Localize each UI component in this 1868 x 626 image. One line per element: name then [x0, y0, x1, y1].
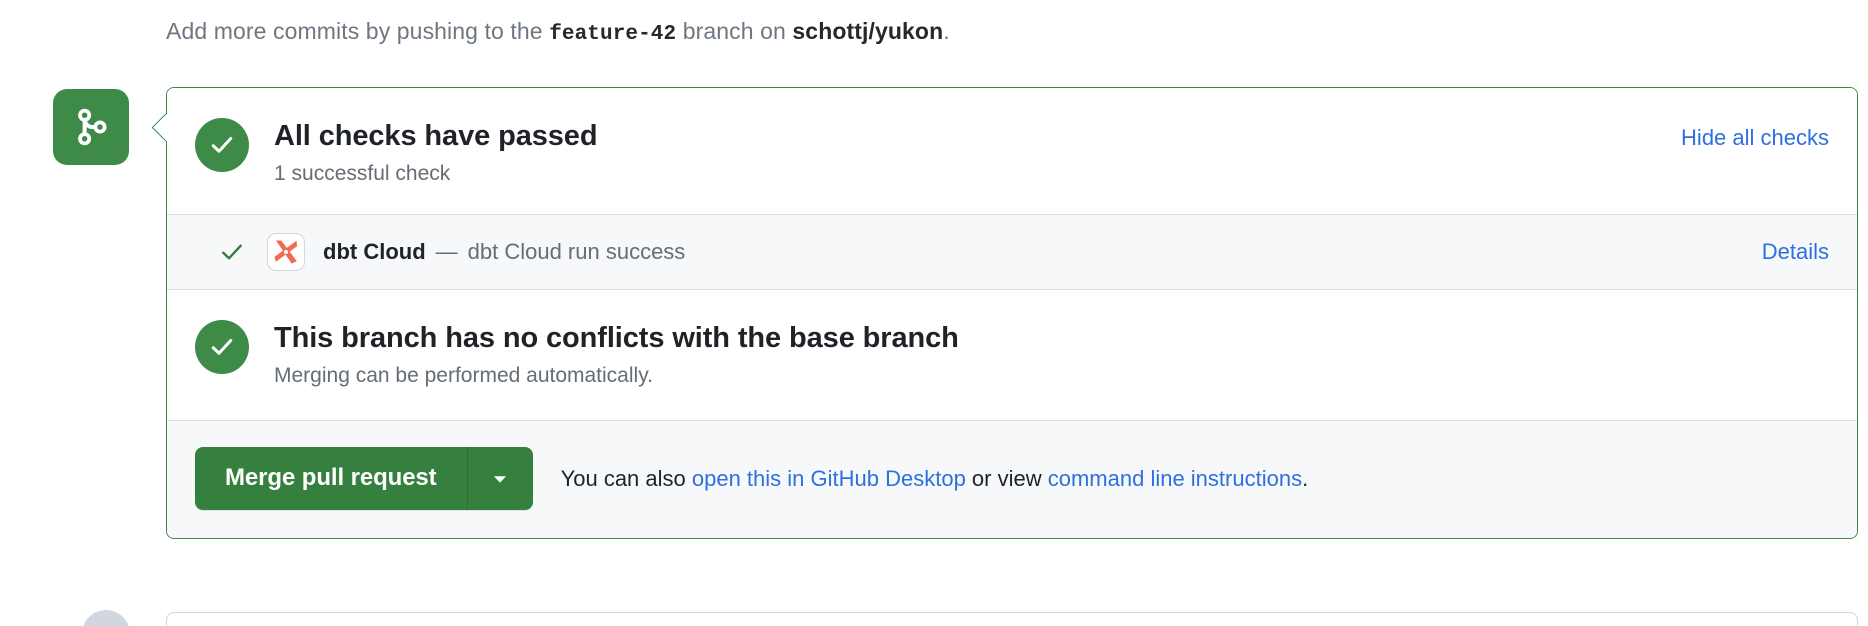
push-hint-suffix: . [943, 18, 950, 44]
merge-method-dropdown-button[interactable] [467, 447, 533, 510]
table-row: dbt Cloud — dbt Cloud run success Detail… [167, 214, 1857, 290]
chevron-down-icon [489, 468, 511, 490]
command-line-instructions-link[interactable]: command line instructions [1048, 466, 1302, 491]
hide-all-checks-link[interactable]: Hide all checks [1681, 124, 1829, 152]
git-merge-icon [71, 107, 111, 147]
conflicts-subtitle: Merging can be performed automatically. [274, 362, 959, 390]
next-comment-card [166, 612, 1858, 626]
merge-button-group: Merge pull request [195, 447, 533, 510]
check-separator: — [436, 237, 458, 267]
push-more-commits-hint: Add more commits by pushing to the featu… [166, 16, 950, 50]
check-app-name: dbt Cloud [323, 237, 426, 267]
check-circle-icon [195, 320, 249, 374]
checks-subtitle: 1 successful check [274, 160, 597, 188]
footer-text-prefix: You can also [561, 466, 692, 491]
check-description: dbt Cloud run success [468, 237, 686, 267]
footer-text-middle: or view [966, 466, 1048, 491]
push-hint-middle: branch on [676, 18, 792, 44]
conflicts-section: This branch has no conflicts with the ba… [167, 290, 1857, 421]
checks-summary-section: All checks have passed 1 successful chec… [167, 88, 1857, 214]
dbt-cloud-logo-icon [267, 233, 305, 271]
conflicts-title: This branch has no conflicts with the ba… [274, 320, 959, 356]
footer-text-suffix: . [1302, 466, 1308, 491]
open-in-github-desktop-link[interactable]: open this in GitHub Desktop [692, 466, 966, 491]
merge-pull-request-button[interactable]: Merge pull request [195, 447, 467, 510]
repository-name: schottj/yukon [792, 18, 943, 44]
merge-box: All checks have passed 1 successful chec… [166, 87, 1858, 539]
check-circle-icon [195, 118, 249, 172]
merge-alternatives-text: You can also open this in GitHub Desktop… [561, 464, 1309, 494]
checks-title: All checks have passed [274, 118, 597, 154]
avatar [82, 610, 130, 626]
merge-state-badge [53, 89, 129, 165]
branch-name: feature-42 [549, 23, 676, 46]
check-icon [217, 237, 247, 267]
merge-box-caret [152, 113, 168, 141]
merge-actions-section: Merge pull request You can also open thi… [167, 421, 1857, 538]
check-details-link[interactable]: Details [1762, 239, 1829, 265]
push-hint-prefix: Add more commits by pushing to the [166, 18, 549, 44]
pull-request-merge-panel: Add more commits by pushing to the featu… [0, 0, 1868, 626]
